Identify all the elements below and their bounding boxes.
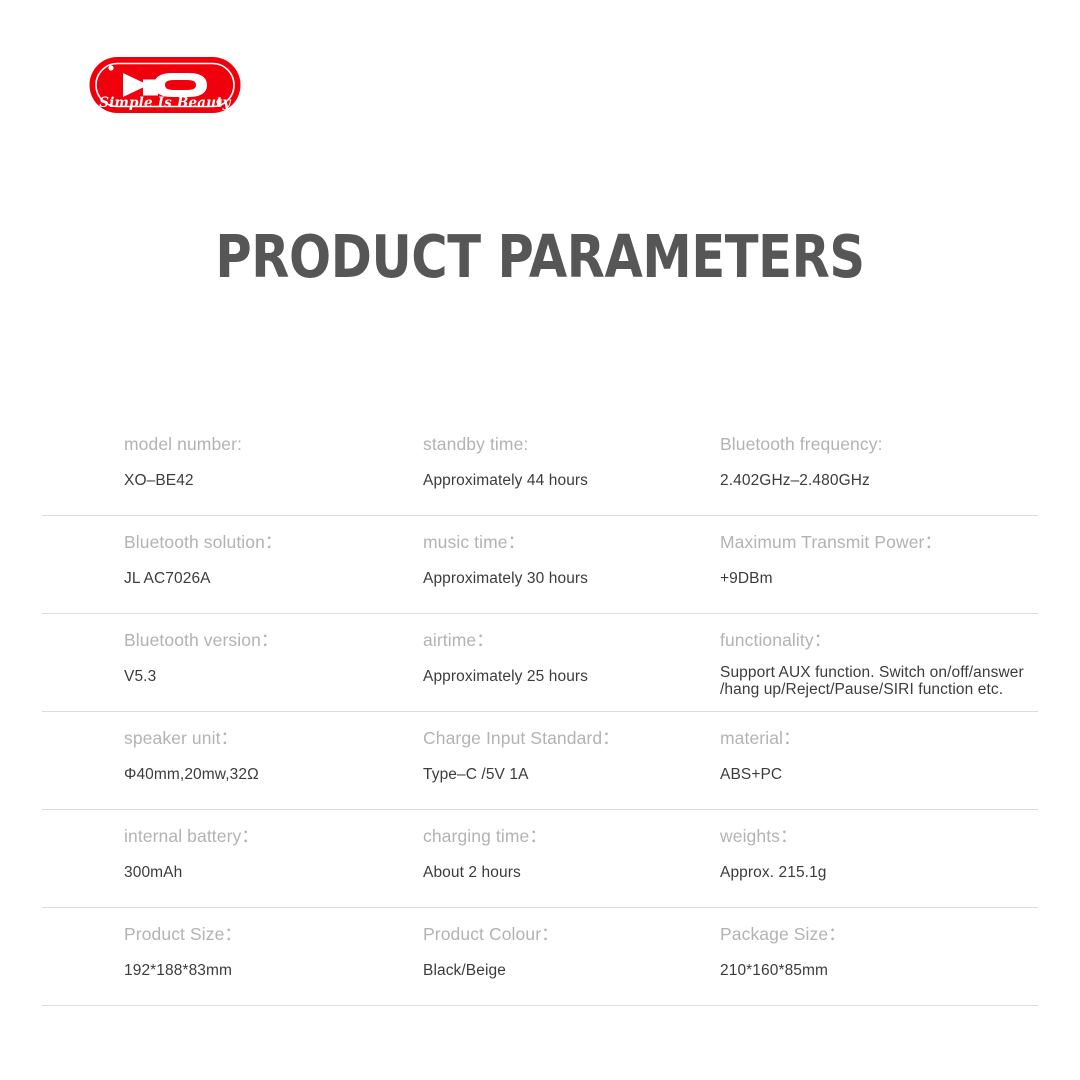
spec-label: model number: (124, 418, 424, 454)
spec-label: charging time： (423, 810, 719, 846)
spec-value: Φ40mm,20mw,32Ω (124, 748, 424, 783)
spec-cell: Product Size： 192*188*83mm (124, 908, 424, 979)
spec-label: Bluetooth solution： (124, 516, 424, 552)
spec-value: V5.3 (124, 650, 424, 685)
spec-value: +9DBm (720, 552, 1050, 587)
page-title: PRODUCT PARAMETERS (86, 222, 993, 291)
spec-label: Bluetooth frequency: (720, 418, 1050, 454)
spec-value: Type–C /5V 1A (423, 748, 719, 783)
xo-logo-icon: Simple Is Beauty (88, 51, 242, 119)
spec-cell: Package Size： 210*160*85mm (720, 908, 1050, 979)
spec-cell: Product Colour： Black/Beige (423, 908, 719, 979)
spec-value: XO–BE42 (124, 454, 424, 489)
spec-cell: Maximum Transmit Power： +9DBm (720, 516, 1050, 587)
spec-value: Support AUX function. Switch on/off/answ… (720, 650, 1052, 700)
table-row: internal battery： 300mAh charging time： … (42, 810, 1038, 908)
spec-value: ABS+PC (720, 748, 1050, 783)
spec-value: Approximately 44 hours (423, 454, 719, 489)
spec-cell: functionality： Support AUX function. Swi… (720, 614, 1050, 699)
spec-value: Approximately 30 hours (423, 552, 719, 587)
spec-cell: internal battery： 300mAh (124, 810, 424, 881)
table-row: speaker unit： Φ40mm,20mw,32Ω Charge Inpu… (42, 712, 1038, 810)
spec-value: 192*188*83mm (124, 944, 424, 979)
spec-label: internal battery： (124, 810, 424, 846)
table-row: model number: XO–BE42 standby time: Appr… (42, 418, 1038, 516)
spec-label: speaker unit： (124, 712, 424, 748)
spec-cell: Bluetooth frequency: 2.402GHz–2.480GHz (720, 418, 1050, 489)
spec-label: Product Colour： (423, 908, 719, 944)
spec-cell: Bluetooth version： V5.3 (124, 614, 424, 685)
spec-cell: material： ABS+PC (720, 712, 1050, 783)
spec-label: Charge Input Standard： (423, 712, 719, 748)
spec-value: 2.402GHz–2.480GHz (720, 454, 1050, 489)
table-row: Bluetooth solution： JL AC7026A music tim… (42, 516, 1038, 614)
spec-cell: model number: XO–BE42 (124, 418, 424, 489)
spec-value: 210*160*85mm (720, 944, 1050, 979)
spec-value: 300mAh (124, 846, 424, 881)
spec-label: material： (720, 712, 1050, 748)
spec-value: Black/Beige (423, 944, 719, 979)
spec-cell: Bluetooth solution： JL AC7026A (124, 516, 424, 587)
spec-cell: standby time: Approximately 44 hours (423, 418, 719, 489)
spec-cell: music time： Approximately 30 hours (423, 516, 719, 587)
product-parameters-table: model number: XO–BE42 standby time: Appr… (42, 418, 1038, 1006)
spec-label: music time： (423, 516, 719, 552)
spec-cell: Charge Input Standard： Type–C /5V 1A (423, 712, 719, 783)
spec-label: Maximum Transmit Power： (720, 516, 1050, 552)
spec-value: JL AC7026A (124, 552, 424, 587)
spec-label: Bluetooth version： (124, 614, 424, 650)
spec-value: Approx. 215.1g (720, 846, 1050, 881)
table-row: Bluetooth version： V5.3 airtime： Approxi… (42, 614, 1038, 712)
spec-cell: weights： Approx. 215.1g (720, 810, 1050, 881)
spec-cell: airtime： Approximately 25 hours (423, 614, 719, 685)
spec-cell: charging time： About 2 hours (423, 810, 719, 881)
spec-label: Product Size： (124, 908, 424, 944)
spec-label: Package Size： (720, 908, 1050, 944)
spec-label: airtime： (423, 614, 719, 650)
spec-value: Approximately 25 hours (423, 650, 719, 685)
logo-tagline: Simple Is Beauty (99, 95, 231, 111)
spec-cell: speaker unit： Φ40mm,20mw,32Ω (124, 712, 424, 783)
spec-label: weights： (720, 810, 1050, 846)
spec-value: About 2 hours (423, 846, 719, 881)
brand-logo: Simple Is Beauty (88, 51, 242, 119)
table-row: Product Size： 192*188*83mm Product Colou… (42, 908, 1038, 1006)
spec-label: standby time: (423, 418, 719, 454)
spec-label: functionality： (720, 614, 1050, 650)
